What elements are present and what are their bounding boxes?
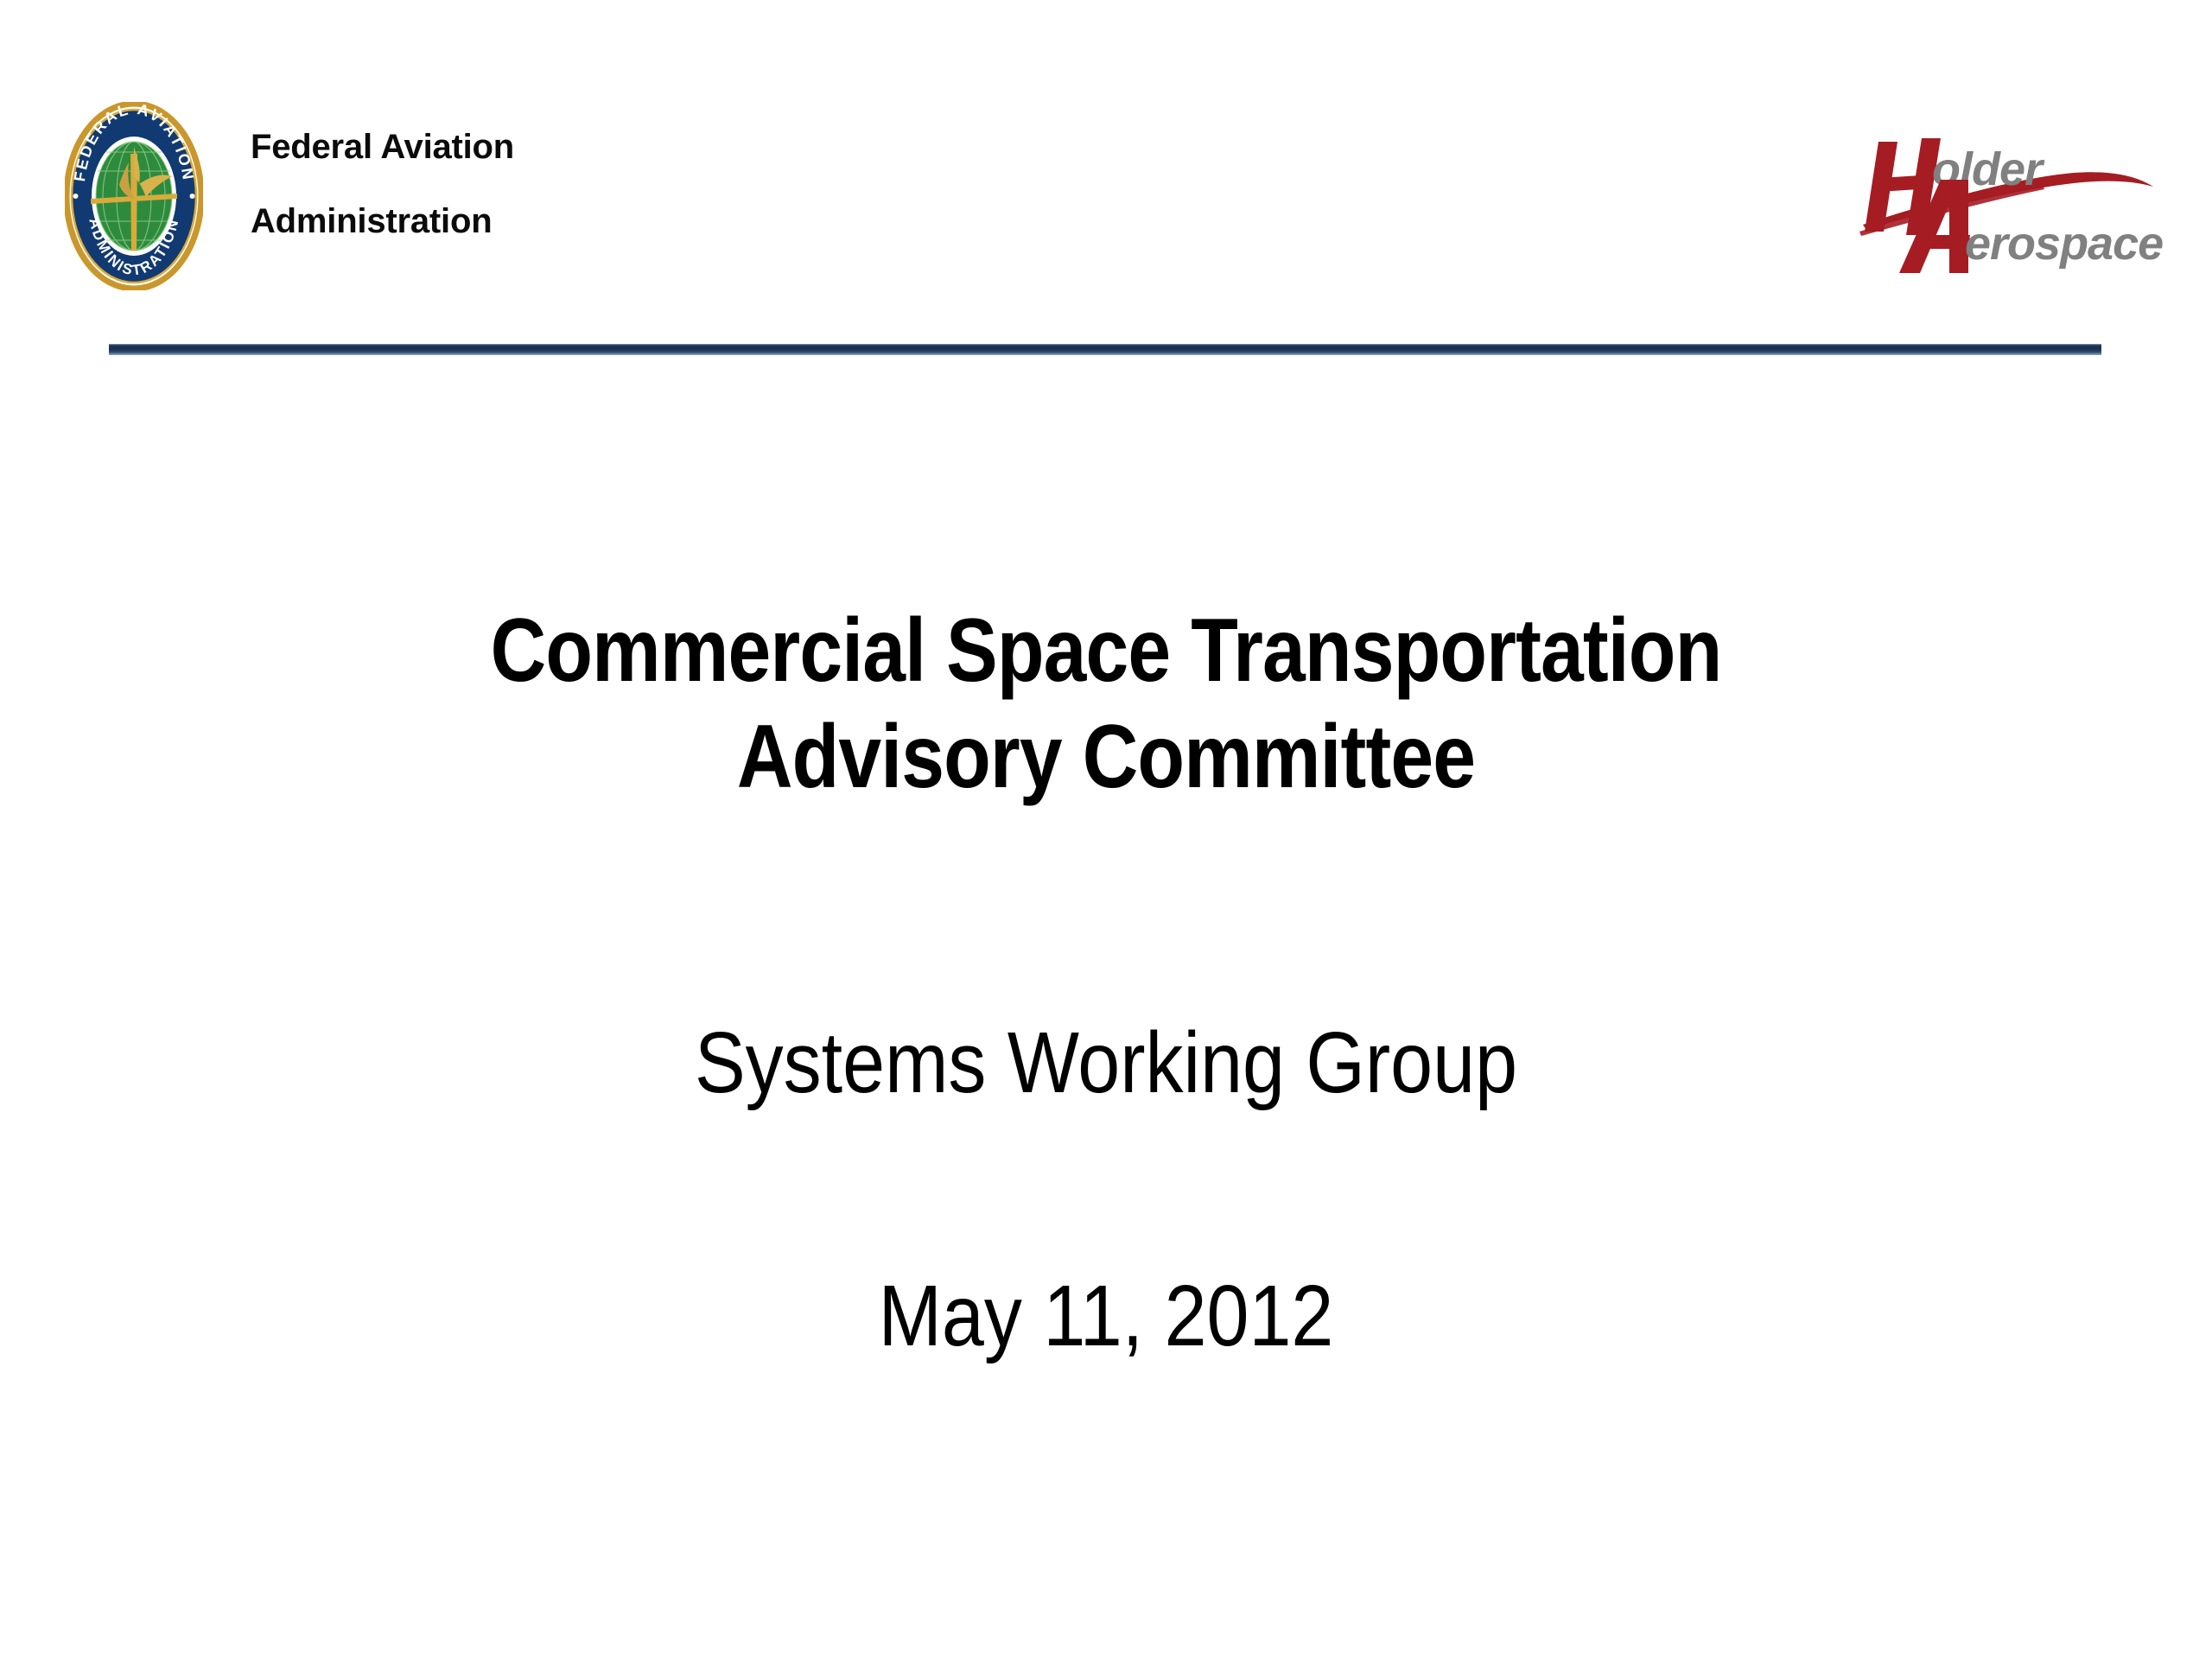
page-subtitle: Systems Working Group xyxy=(133,1014,2080,1113)
agency-name-line-1: Federal Aviation xyxy=(251,130,683,164)
holder-aerospace-logo: older erospace xyxy=(1858,121,2169,294)
slide-header: FEDERAL AVIATION ADMINISTRATION Federal … xyxy=(0,0,2212,363)
agency-name-line-2: Administration xyxy=(251,204,683,238)
faa-branding: FEDERAL AVIATION ADMINISTRATION Federal … xyxy=(65,102,687,296)
presentation-date: May 11, 2012 xyxy=(133,1267,2080,1366)
slide-canvas: FEDERAL AVIATION ADMINISTRATION Federal … xyxy=(0,0,2212,1659)
page-title: Commercial Space Transportation Advisory… xyxy=(155,518,2057,810)
header-divider xyxy=(109,344,2101,355)
faa-seal-icon: FEDERAL AVIATION ADMINISTRATION xyxy=(65,102,203,290)
page-title-line-1: Commercial Space Transportation xyxy=(155,598,2057,704)
title-block: Commercial Space Transportation Advisory… xyxy=(0,518,2212,1366)
page-title-line-2: Advisory Committee xyxy=(155,704,2057,810)
svg-text:erospace: erospace xyxy=(1965,218,2163,270)
faa-wordmark: Federal Aviation Administration xyxy=(251,130,683,238)
